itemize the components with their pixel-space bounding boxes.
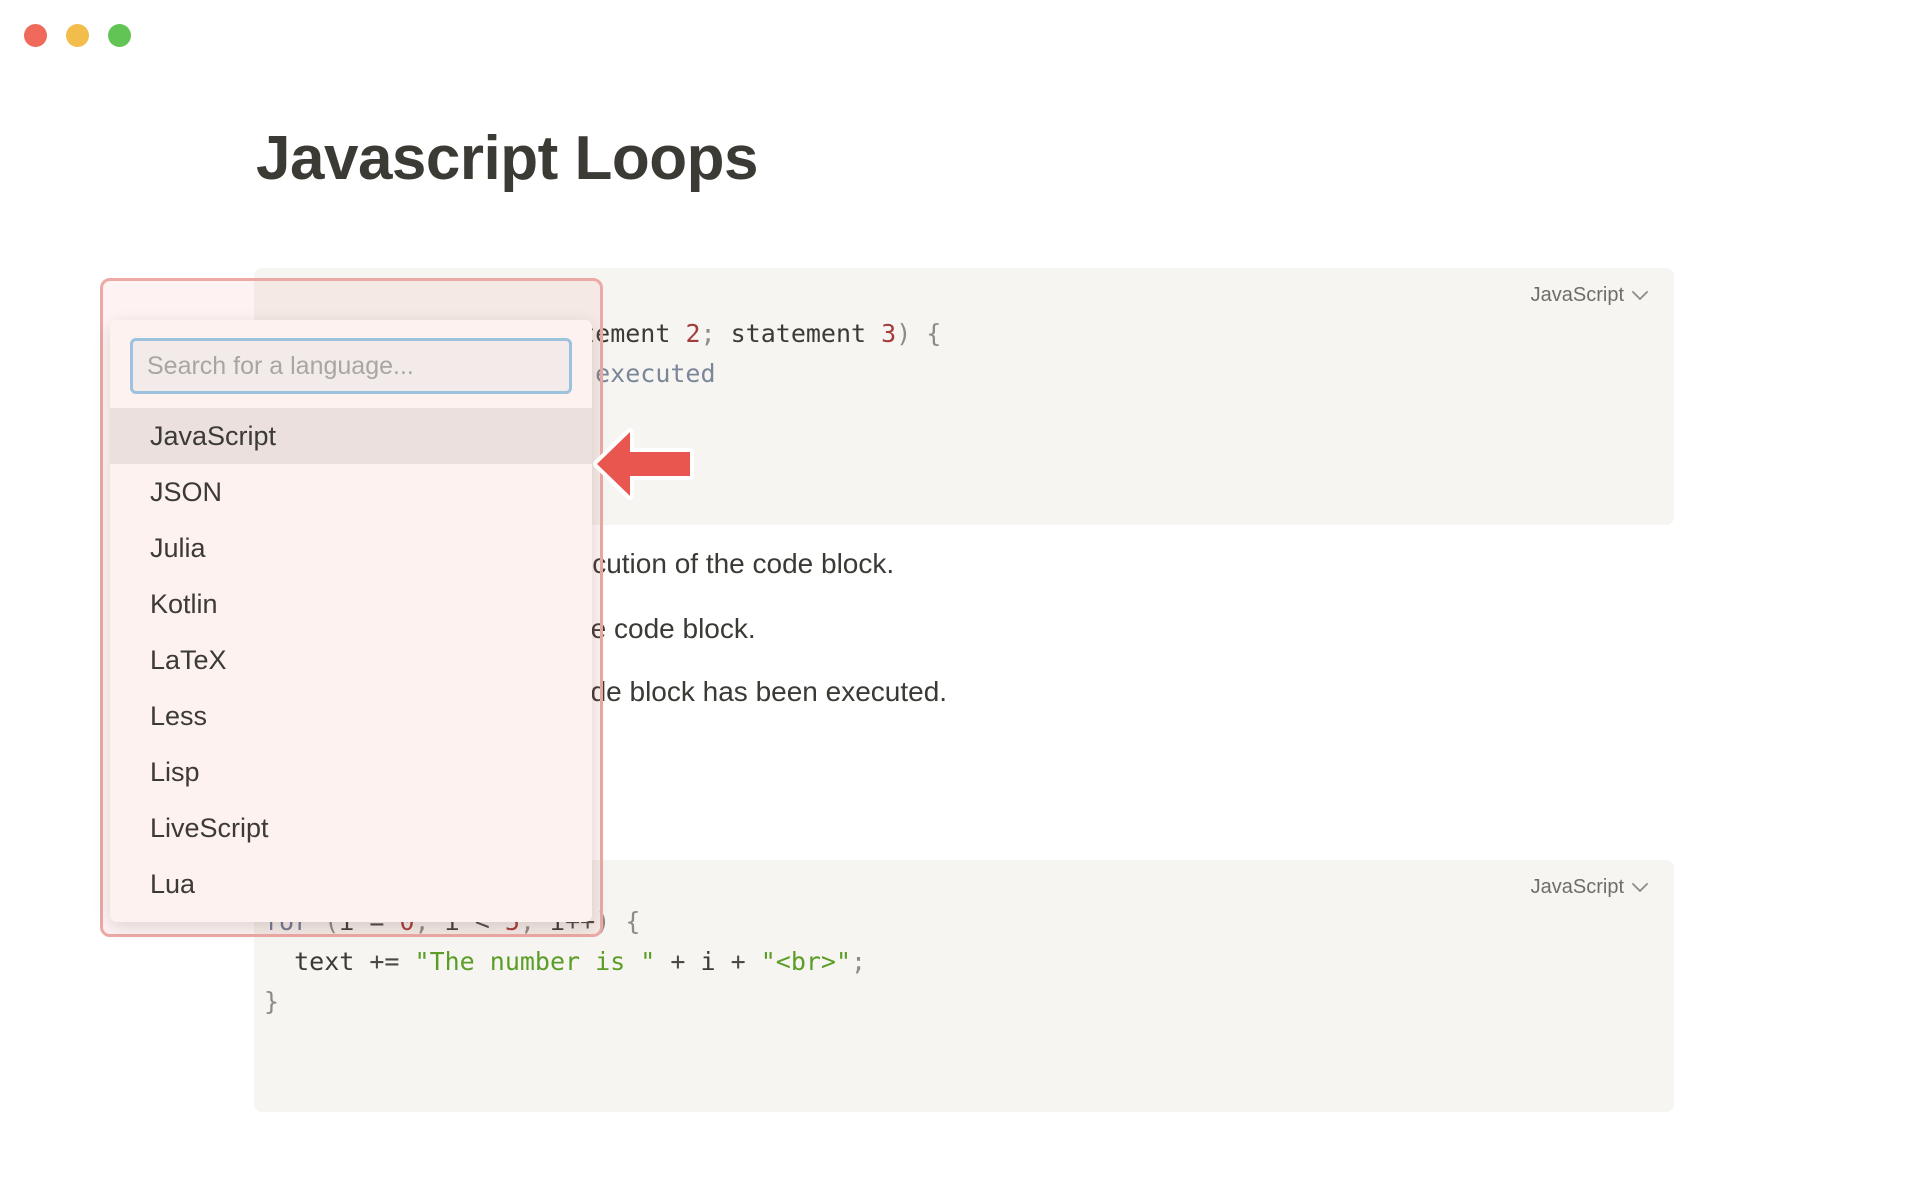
language-list-item-label: JavaScript bbox=[150, 421, 276, 452]
language-list-item[interactable]: LaTeX bbox=[110, 632, 592, 688]
language-list-item-label: LaTeX bbox=[150, 645, 227, 676]
code-token: } bbox=[264, 987, 279, 1016]
language-list-item[interactable]: Julia bbox=[110, 520, 592, 576]
search-wrapper bbox=[110, 320, 592, 408]
chevron-down-icon bbox=[1632, 291, 1648, 301]
code-token: 3 bbox=[881, 319, 896, 348]
code-token: += bbox=[369, 947, 414, 976]
code-token: i bbox=[701, 947, 716, 976]
language-list-item[interactable]: Lua bbox=[110, 856, 592, 912]
maximize-button[interactable] bbox=[108, 24, 131, 47]
language-selector-label: JavaScript bbox=[1531, 876, 1624, 899]
language-list-item-label: Lisp bbox=[150, 757, 200, 788]
language-list: JavaScriptJSONJuliaKotlinLaTeXLessLispLi… bbox=[110, 408, 592, 912]
language-selector-button[interactable]: JavaScript bbox=[1523, 872, 1656, 903]
language-list-item[interactable]: Lisp bbox=[110, 744, 592, 800]
traffic-lights bbox=[24, 24, 131, 47]
language-selector-label: JavaScript bbox=[1531, 284, 1624, 307]
language-list-item[interactable]: Kotlin bbox=[110, 576, 592, 632]
window-titlebar bbox=[0, 0, 1920, 76]
code-token: ; bbox=[851, 947, 866, 976]
code-token: "<br>" bbox=[761, 947, 851, 976]
language-list-item-label: Kotlin bbox=[150, 589, 218, 620]
language-list-item-label: Julia bbox=[150, 533, 206, 564]
chevron-down-icon bbox=[1632, 883, 1648, 893]
code-token: text bbox=[264, 947, 369, 976]
language-list-item-label: LiveScript bbox=[150, 813, 269, 844]
language-list-item[interactable]: JSON bbox=[110, 464, 592, 520]
language-list-item[interactable]: Less bbox=[110, 688, 592, 744]
code-token: "The number is " bbox=[415, 947, 656, 976]
code-token: statement bbox=[731, 319, 882, 348]
close-button[interactable] bbox=[24, 24, 47, 47]
language-list-item[interactable]: LiveScript bbox=[110, 800, 592, 856]
page-title: Javascript Loops bbox=[256, 128, 758, 190]
code-token: + bbox=[716, 947, 761, 976]
code-token: ) { bbox=[896, 319, 941, 348]
minimize-button[interactable] bbox=[66, 24, 89, 47]
language-list-item-label: Less bbox=[150, 701, 207, 732]
code-token: + bbox=[655, 947, 700, 976]
language-dropdown-popover: JavaScriptJSONJuliaKotlinLaTeXLessLispLi… bbox=[110, 320, 592, 922]
language-selector-button[interactable]: JavaScript bbox=[1523, 280, 1656, 311]
language-list-item-label: Lua bbox=[150, 869, 195, 900]
code-token: 2 bbox=[685, 319, 700, 348]
language-list-item-label: JSON bbox=[150, 477, 222, 508]
app-window: Javascript Loops JavaScript for (stateme… bbox=[0, 0, 1920, 1200]
code-token: ; bbox=[701, 319, 731, 348]
language-list-item[interactable]: JavaScript bbox=[110, 408, 592, 464]
search-input[interactable] bbox=[130, 338, 572, 394]
left-arrow-icon bbox=[592, 428, 696, 500]
